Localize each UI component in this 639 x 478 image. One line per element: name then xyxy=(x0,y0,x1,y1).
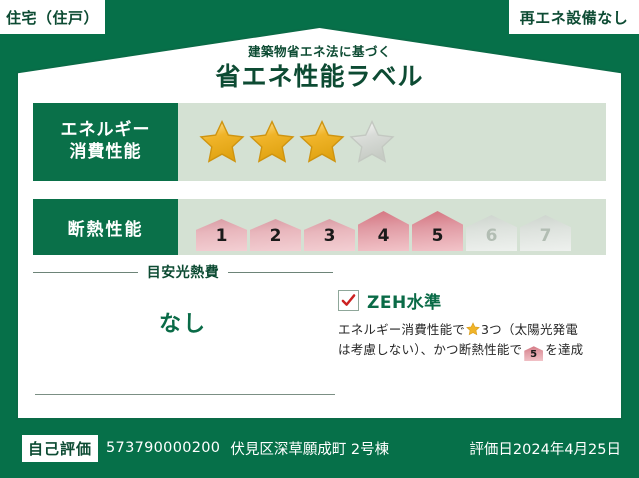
star-filled-icon xyxy=(298,118,346,166)
insulation-grade-badge-4: 4 xyxy=(358,211,409,251)
utility-cost-heading-label: 目安光熱費 xyxy=(147,262,220,282)
building-id: 573790000200 xyxy=(106,440,220,456)
building-address: 伏見区深草願成町 2号棟 xyxy=(230,438,389,459)
zeh-desc-part3: は考慮しない）、かつ断熱性能で xyxy=(338,342,522,357)
inline-grade-badge: 5 xyxy=(524,346,543,361)
utility-cost-heading: 目安光熱費 xyxy=(33,262,333,282)
zeh-desc-part4: を達成 xyxy=(545,342,583,357)
zeh-description: エネルギー消費性能で 3つ（太陽光発電 は考慮しない）、かつ断熱性能で5を達成 xyxy=(338,320,606,361)
insulation-grade-badge-6: 6 xyxy=(466,215,517,251)
energy-performance-row: エネルギー 消費性能 xyxy=(33,103,606,181)
rule-right xyxy=(228,272,333,273)
energy-performance-label: 住宅（住戸） 再エネ設備なし 建築物省エネ法に基づく 省エネ性能ラベル エネルギ… xyxy=(0,0,639,478)
star-filled-icon xyxy=(198,118,246,166)
utility-cost-value: なし xyxy=(33,306,333,338)
insulation-performance-row: 断熱性能 1234567 xyxy=(33,199,606,255)
rule-left xyxy=(33,272,138,273)
evaluation-date: 評価日2024年4月25日 xyxy=(469,438,621,459)
energy-performance-tag: エネルギー 消費性能 xyxy=(33,103,178,181)
insulation-grade-badge-7: 7 xyxy=(520,215,571,251)
self-evaluation-badge: 自己評価 xyxy=(22,435,98,462)
insulation-grade-badge-2: 2 xyxy=(250,219,301,251)
energy-tag-line2: 消費性能 xyxy=(70,142,142,164)
utility-cost-divider xyxy=(35,394,335,395)
renewable-equipment-badge-label: 再エネ設備なし xyxy=(520,7,629,28)
housing-type-badge-label: 住宅（住戸） xyxy=(6,7,99,28)
insulation-grade-scale: 1234567 xyxy=(196,199,571,255)
insulation-performance-tag: 断熱性能 xyxy=(33,199,178,255)
star-icon xyxy=(466,322,480,336)
zeh-heading: ZEH水準 xyxy=(338,288,606,313)
renewable-equipment-badge: 再エネ設備なし xyxy=(509,0,639,34)
insulation-grade-badge-1: 1 xyxy=(196,219,247,251)
insulation-grade-badge-3: 3 xyxy=(304,219,355,251)
zeh-desc-part2: 3つ（太陽光発電 xyxy=(481,322,578,337)
insulation-tag-label: 断熱性能 xyxy=(68,215,144,240)
star-empty-icon xyxy=(348,118,396,166)
footer-bar: 自己評価 573790000200 伏見区深草願成町 2号棟 評価日2024年4… xyxy=(0,418,639,478)
utility-cost-block: 目安光熱費 なし xyxy=(33,262,333,338)
housing-type-badge: 住宅（住戸） xyxy=(0,0,105,34)
energy-tag-line1: エネルギー xyxy=(61,120,151,142)
checkbox-checked-icon[interactable] xyxy=(338,290,359,311)
page-title: 省エネ性能ラベル xyxy=(0,57,639,93)
zeh-standard-block: ZEH水準 エネルギー消費性能で 3つ（太陽光発電 は考慮しない）、かつ断熱性能… xyxy=(338,288,606,361)
insulation-grade-badge-5: 5 xyxy=(412,211,463,251)
zeh-desc-part1: エネルギー消費性能で xyxy=(338,322,465,337)
zeh-title: ZEH水準 xyxy=(367,288,442,313)
star-filled-icon xyxy=(248,118,296,166)
star-rating xyxy=(198,118,396,166)
